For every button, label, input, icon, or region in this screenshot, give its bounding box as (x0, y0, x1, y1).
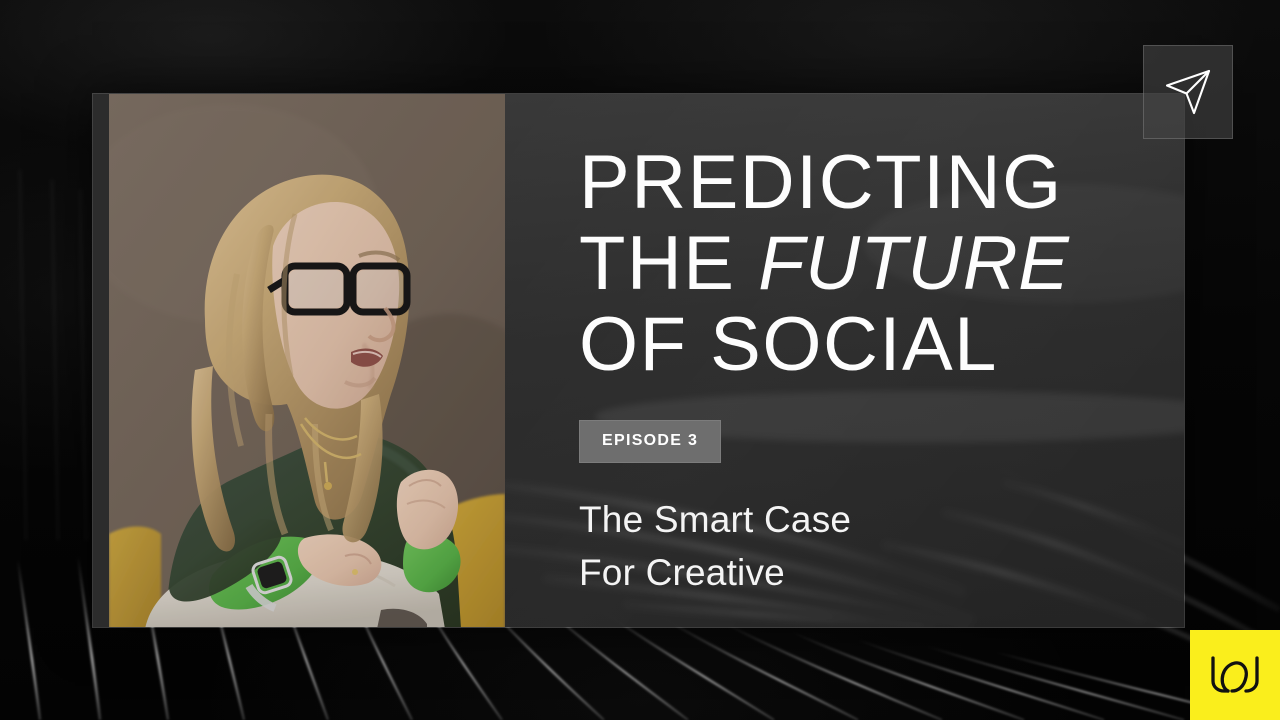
share-button[interactable] (1143, 45, 1233, 139)
title-line-2-plain: THE (579, 221, 758, 306)
portrait-photo (109, 94, 505, 627)
episode-card[interactable]: PREDICTING THE FUTURE OF SOCIAL EPISODE … (92, 93, 1185, 628)
episode-subtitle: The Smart Case For Creative (579, 493, 1184, 599)
brand-logo[interactable] (1190, 630, 1280, 720)
w-monogram-logo-icon (1208, 653, 1262, 697)
page-title: PREDICTING THE FUTURE OF SOCIAL (579, 142, 1184, 385)
episode-info-panel: PREDICTING THE FUTURE OF SOCIAL EPISODE … (505, 94, 1184, 627)
title-line-2: THE FUTURE (579, 223, 1184, 304)
title-line-2-emphasis: FUTURE (758, 221, 1069, 306)
title-line-1: PREDICTING (579, 142, 1184, 223)
subtitle-line-1: The Smart Case (579, 493, 1184, 546)
subtitle-line-2: For Creative (579, 546, 1184, 599)
episode-badge: EPISODE 3 (579, 420, 721, 463)
send-paper-plane-icon (1160, 64, 1216, 120)
episode-thumbnail[interactable] (93, 94, 505, 627)
title-line-3: OF SOCIAL (579, 304, 1184, 385)
video-thumbnail-stage: PREDICTING THE FUTURE OF SOCIAL EPISODE … (0, 0, 1280, 720)
